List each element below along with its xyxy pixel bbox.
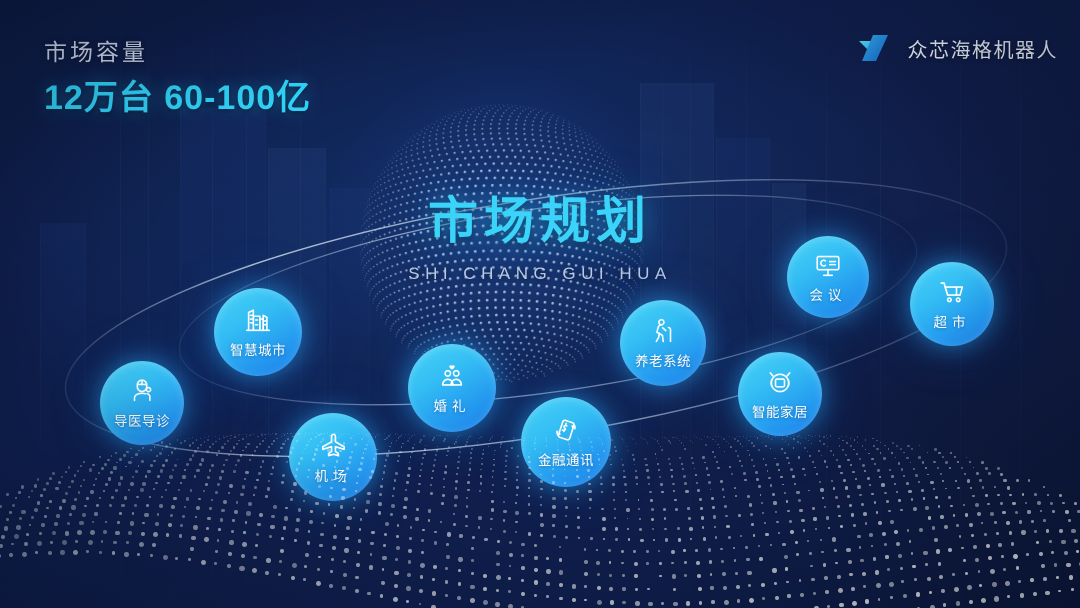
particle-field (0, 418, 1080, 608)
elderly-cane-icon (648, 316, 678, 346)
stat-kicker: 市场容量 (44, 33, 148, 67)
main-title-block: 市场规划 SHI CHANG GUI HUA (0, 181, 1080, 284)
main-title-pinyin: SHI CHANG GUI HUA (408, 264, 672, 284)
node-label: 会议 (810, 284, 847, 304)
city-buildings-icon (243, 305, 273, 335)
smart-home-robot-icon (765, 367, 795, 397)
node-bubble-chaoshi[interactable]: 超市 (910, 262, 994, 346)
node-label: 婚礼 (434, 395, 471, 415)
presentation-board-icon (813, 250, 843, 280)
brand-lockup: 众芯海格机器人 (857, 33, 1059, 63)
x-logo-icon (857, 33, 897, 63)
node-label: 养老系统 (635, 350, 691, 370)
wedding-couple-icon (437, 361, 467, 391)
main-title-cn: 市场规划 (428, 181, 652, 253)
slide-canvas: 市场容量 12万台 60-100亿 众芯海格机器人 市场规划 SHI CHAN (0, 0, 1080, 608)
node-bubble-yanglao-xitong[interactable]: 养老系统 (620, 300, 706, 386)
brand-name: 众芯海格机器人 (908, 34, 1059, 63)
stat-headline: 12万台 60-100亿 (44, 70, 311, 119)
shopping-cart-icon (937, 277, 967, 307)
node-label: 智慧城市 (230, 339, 286, 359)
node-bubble-zhihui-chengshi[interactable]: 智慧城市 (214, 288, 302, 376)
node-label: 超市 (934, 311, 971, 331)
node-bubble-huiyi[interactable]: 会议 (787, 236, 869, 318)
nurse-icon (127, 376, 157, 406)
